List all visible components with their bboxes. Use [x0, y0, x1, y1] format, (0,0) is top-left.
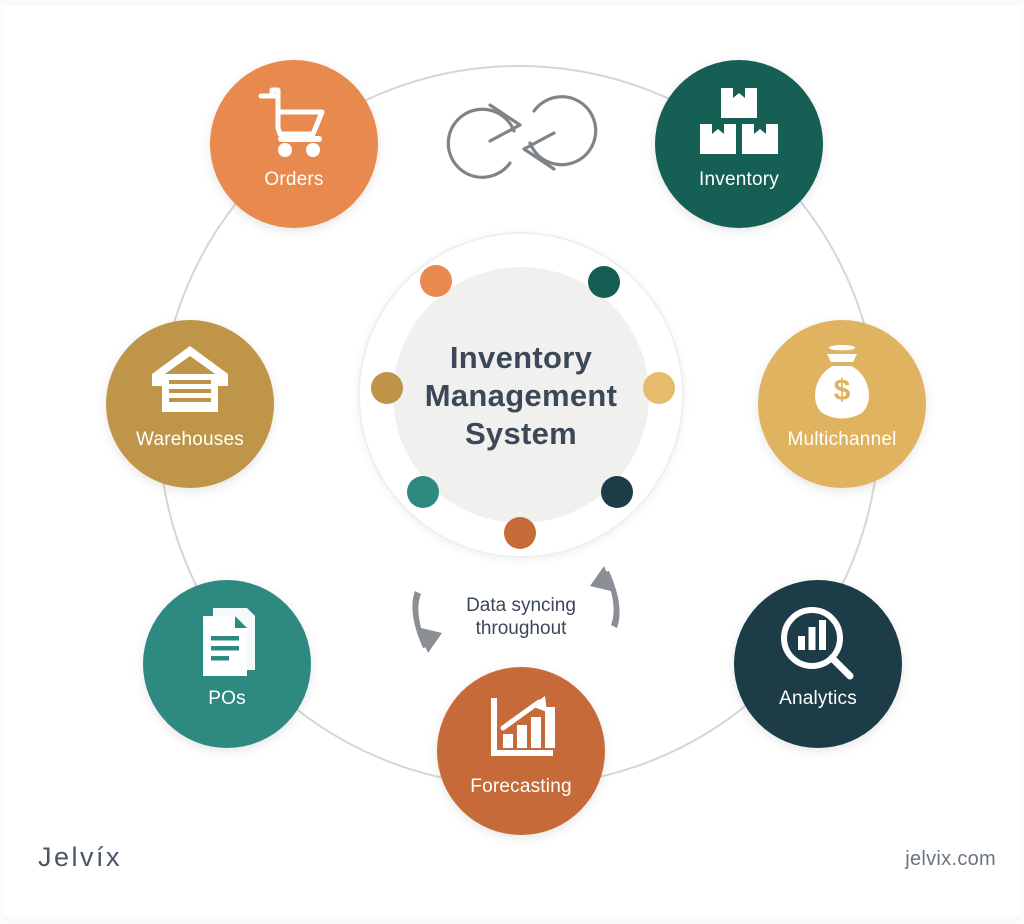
- sync-arrow-up-icon: [590, 566, 620, 628]
- node-orders-label: Orders: [264, 169, 323, 190]
- center-title-line-1: Inventory: [450, 340, 593, 375]
- node-pos-label: POs: [208, 688, 246, 709]
- dot-inventory: [588, 266, 620, 298]
- dot-warehouses: [371, 372, 403, 404]
- node-multichannel-label: Multichannel: [787, 429, 896, 450]
- svg-text:$: $: [834, 374, 851, 407]
- data-syncing-note: Data syncing throughout: [412, 566, 619, 653]
- center-hub: Inventory Management System: [359, 233, 683, 557]
- node-inventory[interactable]: Inventory: [655, 60, 823, 228]
- inventory-management-system-diagram: Inventory Management System Data syncing…: [4, 6, 1024, 924]
- diagram-canvas: Inventory Management System Data syncing…: [0, 0, 1024, 924]
- page-footer: Jelvíx jelvix.com: [4, 842, 1024, 886]
- node-orders-circle[interactable]: [210, 60, 378, 228]
- dot-pos: [407, 476, 439, 508]
- jelvix-url[interactable]: jelvix.com: [905, 848, 996, 871]
- node-warehouses[interactable]: Warehouses: [106, 320, 274, 488]
- dot-orders: [420, 265, 452, 297]
- node-analytics-label: Analytics: [779, 688, 857, 709]
- node-warehouses-label: Warehouses: [136, 429, 244, 450]
- sync-arrows-icon: [448, 97, 595, 178]
- center-title-line-3: System: [465, 416, 577, 451]
- sync-note-line-2: throughout: [476, 618, 568, 639]
- node-multichannel[interactable]: $ Multichannel: [758, 320, 926, 488]
- jelvix-logo: Jelvíx: [38, 842, 122, 873]
- documents-icon: [203, 608, 255, 676]
- center-title-line-2: Management: [425, 378, 617, 413]
- node-pos[interactable]: POs: [143, 580, 311, 748]
- node-forecasting[interactable]: Forecasting: [437, 667, 605, 835]
- dot-analytics: [601, 476, 633, 508]
- sync-note-line-1: Data syncing: [466, 595, 576, 616]
- node-inventory-label: Inventory: [699, 169, 779, 190]
- node-orders[interactable]: Orders: [210, 60, 378, 228]
- node-analytics[interactable]: Analytics: [734, 580, 902, 748]
- dot-forecasting: [504, 517, 536, 549]
- node-forecasting-label: Forecasting: [470, 776, 571, 797]
- node-inventory-circle[interactable]: [655, 60, 823, 228]
- dot-multichannel: [643, 372, 675, 404]
- sync-arrow-down-icon: [412, 591, 442, 653]
